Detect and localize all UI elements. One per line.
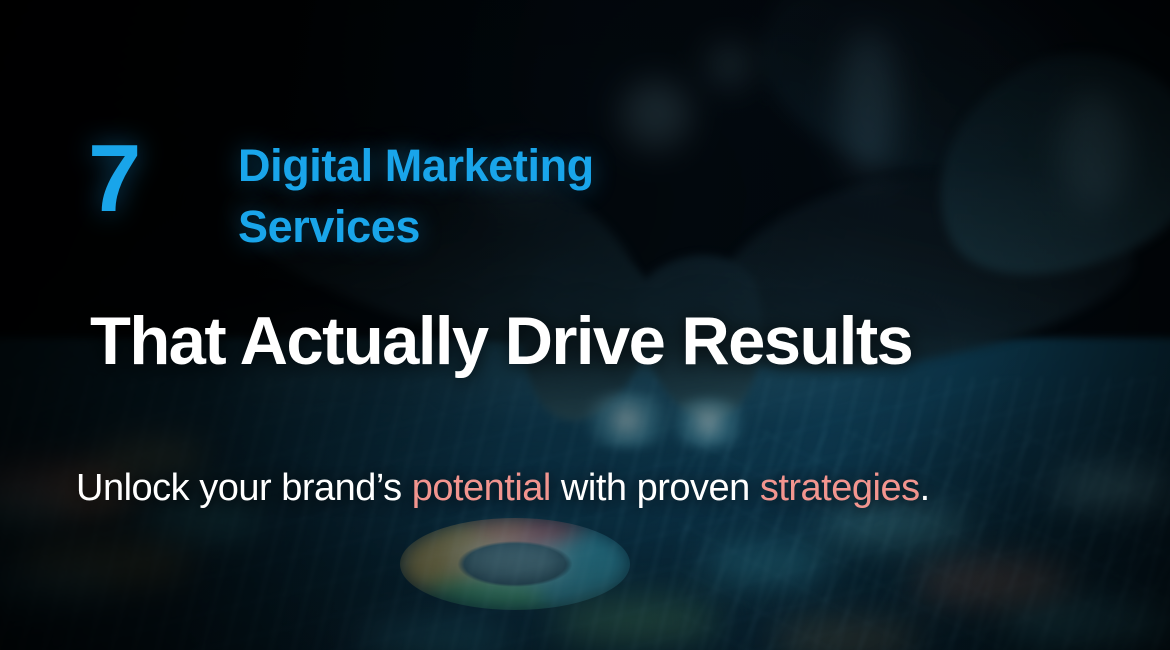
subtitle-part-2: with proven [551,467,760,509]
subtitle-highlight-strategies: strategies [760,467,920,509]
subtitle-part-1: Unlock your brand’s [76,467,412,509]
subtitle-part-3: . [920,467,930,509]
eyebrow-block: 7 Digital Marketing Services [88,132,594,258]
banner-content: 7 Digital Marketing Services That Actual… [0,0,1170,650]
count-number: 7 [88,132,238,226]
subtitle: Unlock your brand’s potential with prove… [76,466,930,512]
subtitle-highlight-potential: potential [412,467,551,509]
page-title: That Actually Drive Results [90,306,912,377]
eyebrow-line-2: Services [238,197,594,258]
eyebrow-text: Digital Marketing Services [238,132,594,258]
marketing-banner: 7 Digital Marketing Services That Actual… [0,0,1170,650]
eyebrow-line-1: Digital Marketing [238,136,594,197]
